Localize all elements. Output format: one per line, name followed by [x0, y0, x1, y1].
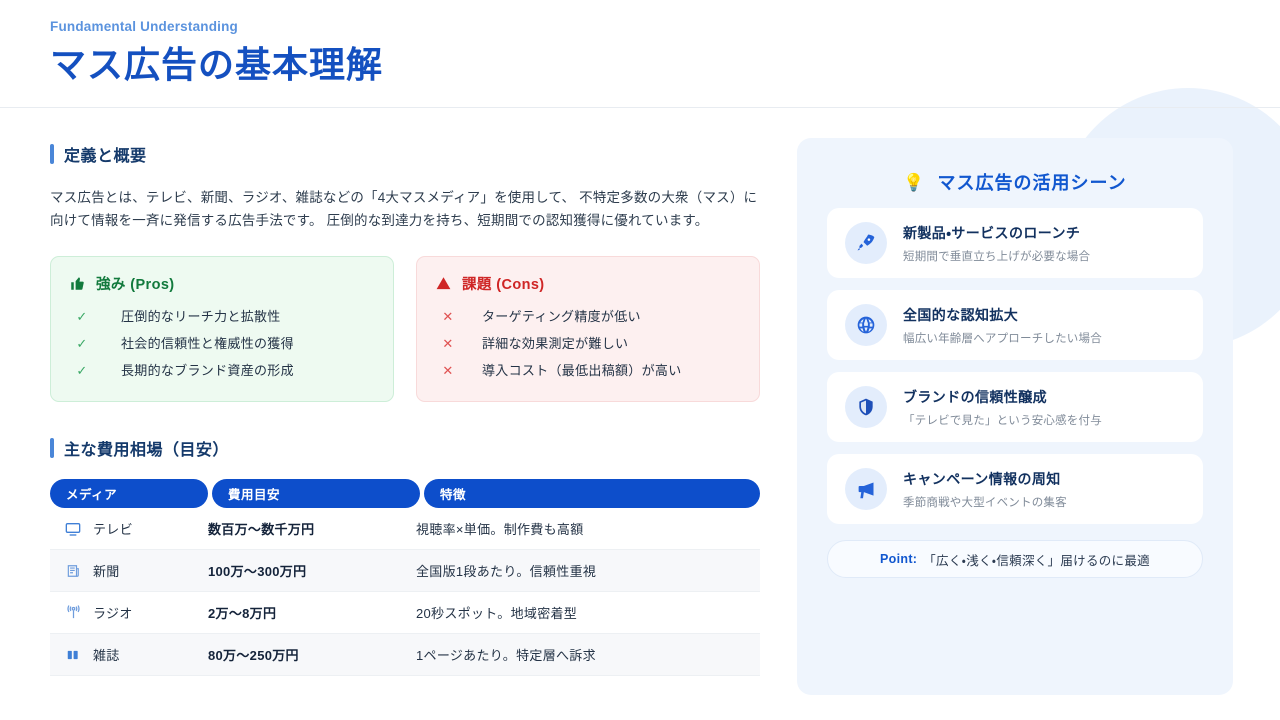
pros-item-label: 長期的なブランド資産の形成	[95, 364, 294, 377]
cell-feature: 視聴率×単価。制作費も高額	[416, 519, 752, 538]
section-header-cost: 主な費用相場（目安）	[50, 436, 760, 460]
pros-cons-wrapper: 強み (Pros) ✓ 圧倒的なリーチ力と拡散性 ✓ 社会的信頼性と権威性の獲得…	[50, 256, 760, 402]
scene-card-launch[interactable]: 新製品・サービスのローンチ 短期間で垂直立ち上げが必要な場合	[827, 208, 1203, 278]
cell-media: 雑誌	[50, 645, 208, 664]
tv-icon	[64, 520, 82, 538]
column-header-feature[interactable]: 特徴	[424, 479, 760, 508]
check-icon: ✓	[69, 337, 95, 350]
table-row: ラジオ 2万〜8万円 20秒スポット。地域密着型	[50, 592, 760, 634]
cell-cost: 80万〜250万円	[208, 645, 416, 664]
section-accent-bar	[50, 144, 54, 164]
cell-cost: 数百万〜数千万円	[208, 519, 416, 538]
cell-media-label: 新聞	[93, 561, 120, 580]
panel-title-text: マス広告の活用シーン	[938, 169, 1127, 195]
cell-media-label: 雑誌	[93, 645, 120, 664]
cell-media-label: ラジオ	[93, 603, 133, 622]
pros-title-text: 強み (Pros)	[96, 273, 175, 294]
megaphone-icon	[845, 468, 887, 510]
point-label: Point:	[880, 552, 917, 566]
scene-text: 全国的な認知拡大 幅広い年齢層へアプローチしたい場合	[903, 305, 1102, 346]
column-header-cost[interactable]: 費用目安	[212, 479, 420, 508]
cell-media: ラジオ	[50, 603, 208, 622]
scene-text: ブランドの信頼性醸成 「テレビで見た」という安心感を付与	[903, 387, 1102, 428]
thumbs-up-icon	[69, 276, 85, 292]
table-row: テレビ 数百万〜数千万円 視聴率×単価。制作費も高額	[50, 508, 760, 550]
pros-list-item: ✓ 圧倒的なリーチ力と拡散性	[69, 303, 375, 330]
column-header-media[interactable]: メディア	[50, 479, 208, 508]
cell-feature: 全国版1段あたり。信頼性重視	[416, 561, 752, 580]
scene-subtitle: 短期間で垂直立ち上げが必要な場合	[903, 248, 1090, 264]
pros-item-label: 圧倒的なリーチ力と拡散性	[95, 310, 281, 323]
radio-tower-icon	[64, 604, 82, 622]
main-content: 定義と概要 マス広告とは、テレビ、新聞、ラジオ、雑誌などの「4大マスメディア」を…	[50, 108, 760, 676]
lightbulb-icon: 💡	[903, 174, 925, 191]
cross-icon: ✕	[435, 310, 461, 323]
point-text: 「広く・浅く・信頼深く」届けるのに最適	[923, 550, 1150, 569]
shield-icon	[845, 386, 887, 428]
cons-list-item: ✕ 導入コスト（最低出稿額）が高い	[435, 357, 741, 384]
pros-list: ✓ 圧倒的なリーチ力と拡散性 ✓ 社会的信頼性と権威性の獲得 ✓ 長期的なブラン…	[69, 303, 375, 384]
rocket-icon	[845, 222, 887, 264]
cell-feature: 20秒スポット。地域密着型	[416, 603, 752, 622]
cons-title-text: 課題 (Cons)	[462, 273, 545, 294]
scene-text: 新製品・サービスのローンチ 短期間で垂直立ち上げが必要な場合	[903, 223, 1090, 264]
pros-list-item: ✓ 社会的信頼性と権威性の獲得	[69, 330, 375, 357]
cons-list: ✕ ターゲティング精度が低い ✕ 詳細な効果測定が難しい ✕ 導入コスト（最低出…	[435, 303, 741, 384]
cross-icon: ✕	[435, 364, 461, 377]
cons-card: 課題 (Cons) ✕ ターゲティング精度が低い ✕ 詳細な効果測定が難しい ✕…	[416, 256, 760, 402]
check-icon: ✓	[69, 310, 95, 323]
cons-card-title: 課題 (Cons)	[435, 273, 741, 294]
section-accent-bar	[50, 438, 54, 458]
pros-item-label: 社会的信頼性と権威性の獲得	[95, 337, 294, 350]
scene-title: 全国的な認知拡大	[903, 305, 1102, 325]
check-icon: ✓	[69, 364, 95, 377]
table-header-row: メディア 費用目安 特徴	[50, 479, 760, 508]
scene-subtitle: 季節商戦や大型イベントの集客	[903, 494, 1067, 510]
scene-title: 新製品・サービスのローンチ	[903, 223, 1090, 243]
scene-card-trust[interactable]: ブランドの信頼性醸成 「テレビで見た」という安心感を付与	[827, 372, 1203, 442]
use-case-panel: 💡 マス広告の活用シーン 新製品・サービスのローンチ 短期間で垂直立ち上げが必要…	[797, 138, 1233, 695]
eyebrow-label: Fundamental Understanding	[50, 19, 238, 34]
scene-subtitle: 幅広い年齢層へアプローチしたい場合	[903, 330, 1102, 346]
pros-card: 強み (Pros) ✓ 圧倒的なリーチ力と拡散性 ✓ 社会的信頼性と権威性の獲得…	[50, 256, 394, 402]
panel-header: 💡 マス広告の活用シーン	[827, 156, 1203, 208]
section-title-cost: 主な費用相場（目安）	[64, 436, 229, 460]
slide-page: Fundamental Understanding マス広告の基本理解 定義と概…	[0, 0, 1280, 720]
cell-media: テレビ	[50, 519, 208, 538]
point-callout: Point: 「広く・浅く・信頼深く」届けるのに最適	[827, 540, 1203, 578]
page-title: マス広告の基本理解	[50, 42, 383, 87]
pros-list-item: ✓ 長期的なブランド資産の形成	[69, 357, 375, 384]
cell-media: 新聞	[50, 561, 208, 580]
cons-list-item: ✕ 詳細な効果測定が難しい	[435, 330, 741, 357]
cell-media-label: テレビ	[93, 519, 133, 538]
globe-icon	[845, 304, 887, 346]
cell-cost: 2万〜8万円	[208, 603, 416, 622]
definition-body: マス広告とは、テレビ、新聞、ラジオ、雑誌などの「4大マスメディア」を使用して、 …	[50, 186, 762, 232]
cons-item-label: ターゲティング精度が低い	[461, 310, 641, 323]
section-title-definition: 定義と概要	[64, 142, 147, 166]
cons-list-item: ✕ ターゲティング精度が低い	[435, 303, 741, 330]
scene-card-campaign[interactable]: キャンペーン情報の周知 季節商戦や大型イベントの集客	[827, 454, 1203, 524]
books-icon	[64, 646, 82, 664]
page-header: Fundamental Understanding マス広告の基本理解	[0, 0, 1280, 108]
cons-item-label: 詳細な効果測定が難しい	[461, 337, 628, 350]
newspaper-icon	[64, 562, 82, 580]
scene-title: ブランドの信頼性醸成	[903, 387, 1102, 407]
pros-card-title: 強み (Pros)	[69, 273, 375, 294]
table-row: 雑誌 80万〜250万円 1ページあたり。特定層へ訴求	[50, 634, 760, 676]
warning-triangle-icon	[435, 276, 451, 292]
table-row: 新聞 100万〜300万円 全国版1段あたり。信頼性重視	[50, 550, 760, 592]
cons-item-label: 導入コスト（最低出稿額）が高い	[461, 364, 682, 377]
cell-cost: 100万〜300万円	[208, 561, 416, 580]
cross-icon: ✕	[435, 337, 461, 350]
scene-text: キャンペーン情報の周知 季節商戦や大型イベントの集客	[903, 469, 1067, 510]
scene-card-awareness[interactable]: 全国的な認知拡大 幅広い年齢層へアプローチしたい場合	[827, 290, 1203, 360]
cost-table: メディア 費用目安 特徴 テレビ 数百万〜数千万円 視聴率×単価。制作費も高額	[50, 479, 760, 676]
scene-subtitle: 「テレビで見た」という安心感を付与	[903, 412, 1102, 428]
cell-feature: 1ページあたり。特定層へ訴求	[416, 645, 752, 664]
section-header-definition: 定義と概要	[50, 142, 760, 166]
scene-title: キャンペーン情報の周知	[903, 469, 1067, 489]
